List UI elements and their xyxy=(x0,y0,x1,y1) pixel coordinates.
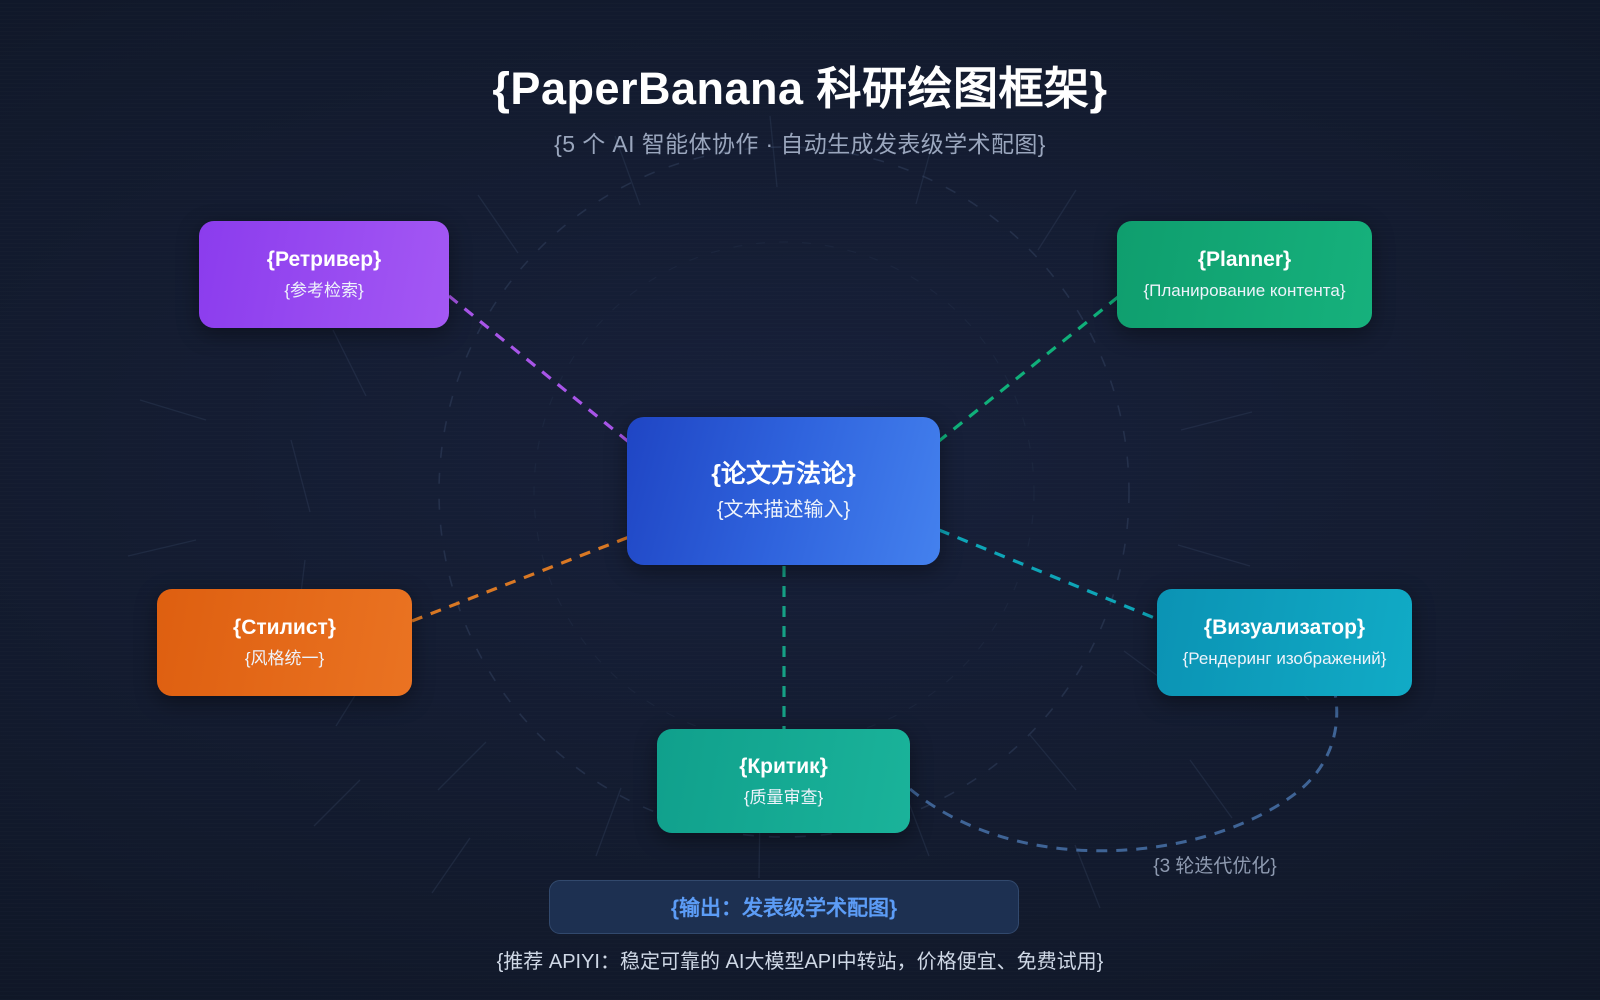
node-critic-title: {Критик} xyxy=(739,755,828,779)
node-stylist-subtitle: {风格统一} xyxy=(245,649,324,669)
node-planner-title: {Planner} xyxy=(1198,248,1291,272)
output-banner[interactable]: {输出：发表级学术配图} xyxy=(549,880,1019,934)
node-agent-critic[interactable]: {Критик} {质量审查} xyxy=(657,729,910,833)
node-visualizer-title: {Визуализатор} xyxy=(1204,616,1365,640)
node-retriever-subtitle: {参考检索} xyxy=(284,281,363,301)
node-agent-visualizer[interactable]: {Визуализатор} {Рендеринг изображений} xyxy=(1157,589,1412,696)
output-banner-label: {输出：发表级学术配图} xyxy=(671,892,897,922)
node-planner-subtitle: {Планирование контента} xyxy=(1143,281,1345,301)
node-retriever-title: {Ретривер} xyxy=(267,248,381,272)
node-agent-stylist[interactable]: {Стилист} {风格统一} xyxy=(157,589,412,696)
node-center-methodology[interactable]: {论文方法论} {文本描述输入} xyxy=(627,417,940,565)
page-subtitle: {5 个 AI 智能体协作 · 自动生成发表级学术配图} xyxy=(0,125,1600,159)
link-center-stylist xyxy=(412,537,629,621)
node-center-title: {论文方法论} xyxy=(711,460,855,489)
diagram-canvas: {PaperBanana 科研绘图框架} {5 个 AI 智能体协作 · 自动生… xyxy=(0,0,1600,1000)
node-agent-planner[interactable]: {Planner} {Планирование контента} xyxy=(1117,221,1372,328)
page-title: {PaperBanana 科研绘图框架} xyxy=(0,52,1600,117)
link-center-retriever xyxy=(449,296,630,443)
footer-note: {推荐 APIYI：稳定可靠的 AI大模型API中转站，价格便宜、免费试用} xyxy=(0,945,1600,974)
iteration-loop-label: {3 轮迭代优化} xyxy=(1090,851,1340,878)
link-center-visualizer xyxy=(939,530,1157,619)
link-iteration-loop xyxy=(910,676,1337,851)
node-agent-retriever[interactable]: {Ретривер} {参考检索} xyxy=(199,221,449,328)
node-visualizer-subtitle: {Рендеринг изображений} xyxy=(1183,649,1387,669)
node-center-subtitle: {文本描述输入} xyxy=(717,499,850,522)
node-stylist-title: {Стилист} xyxy=(233,616,336,640)
node-critic-subtitle: {质量审查} xyxy=(744,788,823,808)
link-center-planner xyxy=(939,297,1118,441)
